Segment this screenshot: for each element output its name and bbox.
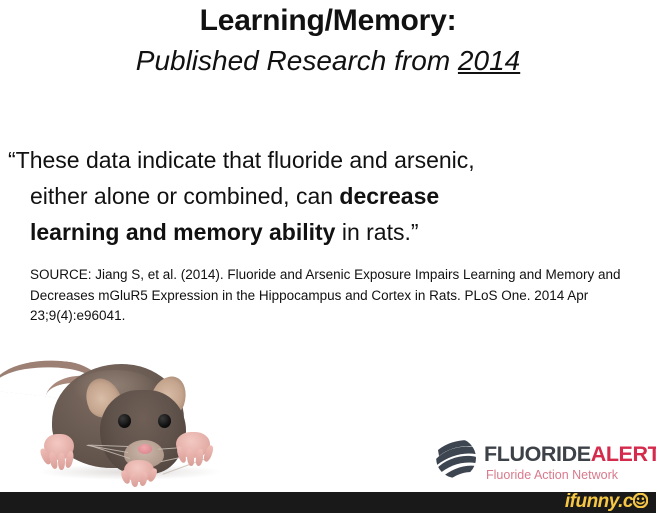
subtitle-year: 2014 [458, 45, 520, 76]
rat-photo [0, 348, 250, 496]
page-subtitle: Published Research from 2014 [0, 44, 656, 78]
quote-line-2: either alone or combined, can decrease [8, 178, 650, 214]
rat-eye-right [158, 414, 171, 428]
ifunny-watermark-bar: ifunny.c [0, 492, 656, 513]
rat-nose [138, 444, 152, 454]
logo-word-fluoride: FLUORIDE [484, 442, 591, 466]
quote-line-1: “These data indicate that fluoride and a… [8, 142, 650, 178]
logo-word-alert: ALERT [591, 442, 656, 466]
rat-toe [58, 453, 65, 470]
quote-line-2-text: either alone or combined, can [30, 183, 339, 209]
logo-tagline: Fluoride Action Network [486, 468, 618, 482]
source-citation: SOURCE: Jiang S, et al. (2014). Fluoride… [30, 265, 630, 327]
slide-canvas: Learning/Memory: Published Research from… [0, 0, 656, 513]
ifunny-watermark: ifunny.c [565, 491, 648, 512]
quote-line-3-text: in rats.” [335, 219, 418, 245]
fluoridealert-logo[interactable]: FLUORIDEALERT.ORG Fluoride Action Networ… [434, 434, 656, 486]
quote-line-3-emphasis: learning and memory ability [30, 219, 335, 245]
ifunny-text: ifunny.c [565, 491, 633, 512]
quote-line-2-emphasis: decrease [339, 183, 439, 209]
smiley-face-icon [633, 493, 648, 508]
fluoridealert-wordmark: FLUORIDEALERT.ORG [484, 442, 656, 467]
quote-line-3: learning and memory ability in rats.” [8, 214, 650, 250]
quote-block: “These data indicate that fluoride and a… [8, 142, 650, 250]
subtitle-prefix: Published Research from [136, 45, 458, 76]
rat-eye-left [118, 414, 131, 428]
page-title: Learning/Memory: [0, 4, 656, 38]
globe-swoosh-icon [434, 436, 478, 480]
